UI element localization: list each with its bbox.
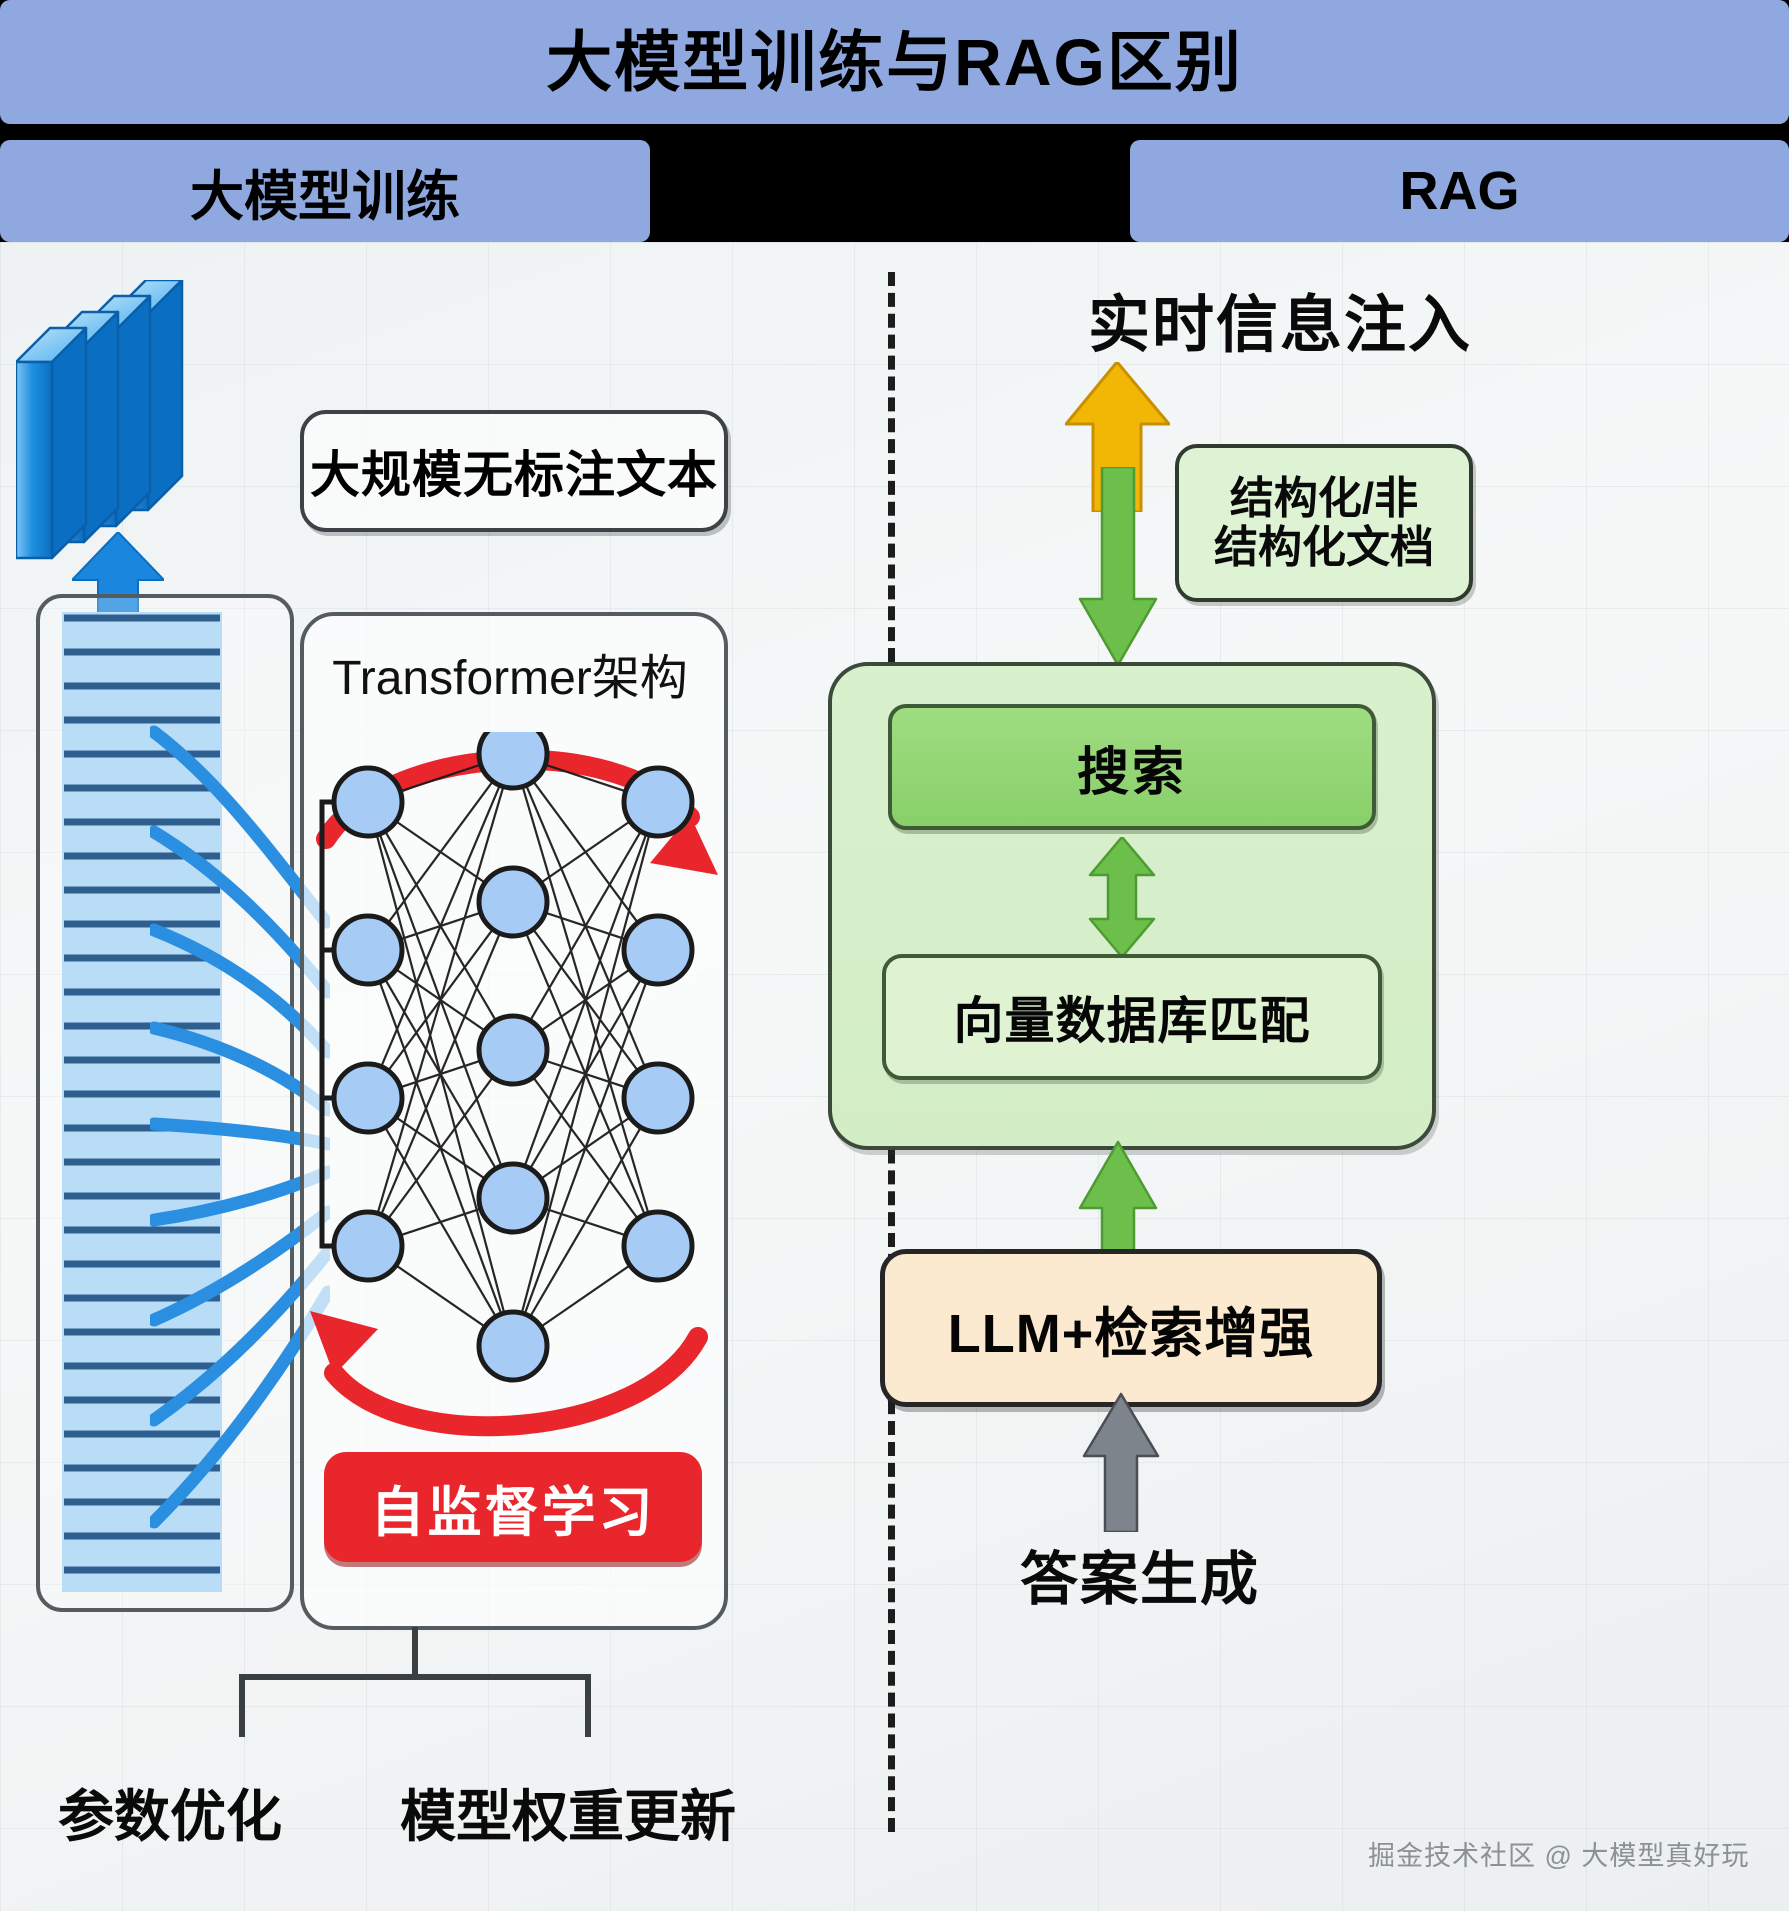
vector-db-step-label: 向量数据库匹配 (954, 981, 1311, 1053)
data-stack-3d-icon (16, 280, 246, 560)
vector-db-step-box: 向量数据库匹配 (882, 954, 1382, 1080)
infographic-root: 大模型训练与RAG区别 大模型训练 RAG (0, 0, 1789, 1911)
neural-network-icon (318, 732, 708, 1432)
green-double-arrow-icon (1088, 837, 1156, 957)
gray-up-arrow-icon (1082, 1392, 1160, 1532)
title-banner: 大模型训练与RAG区别 (0, 0, 1789, 124)
answer-generation-label: 答案生成 (940, 1532, 1340, 1616)
document-type-line2: 结构化文档 (1214, 523, 1434, 572)
rag-flow-title: 实时信息注入 (930, 274, 1630, 364)
unlabeled-text-callout: 大规模无标注文本 (300, 410, 728, 532)
llm-step-label: LLM+检索增强 (948, 1289, 1315, 1368)
bracket-connector-icon (180, 1627, 650, 1737)
search-step-box: 搜索 (888, 704, 1376, 830)
column-header-row: 大模型训练 RAG (0, 124, 1789, 242)
unlabeled-text-label: 大规模无标注文本 (310, 435, 718, 507)
column-header-training: 大模型训练 (0, 140, 650, 242)
column-header-training-label: 大模型训练 (190, 152, 460, 231)
document-type-line1: 结构化/非 (1230, 474, 1418, 523)
diagram-canvas: 大规模无标注文本 Transformer架构 (0, 242, 1789, 1911)
llm-step-box: LLM+检索增强 (880, 1249, 1382, 1407)
self-supervised-badge: 自监督学习 (324, 1452, 702, 1562)
self-supervised-label: 自监督学习 (371, 1468, 656, 1547)
bottom-label-param-optimization: 参数优化 (58, 1772, 282, 1853)
document-type-box: 结构化/非 结构化文档 (1175, 444, 1473, 602)
page-title: 大模型训练与RAG区别 (546, 29, 1243, 95)
column-header-rag-label: RAG (1400, 160, 1520, 222)
search-step-label: 搜索 (1077, 730, 1187, 805)
bottom-label-weight-update: 模型权重更新 (400, 1772, 736, 1853)
column-header-rag: RAG (1130, 140, 1789, 242)
green-down-arrow-icon (1078, 467, 1158, 667)
watermark-text: 掘金技术社区 @ 大模型真好玩 (1368, 1834, 1749, 1873)
